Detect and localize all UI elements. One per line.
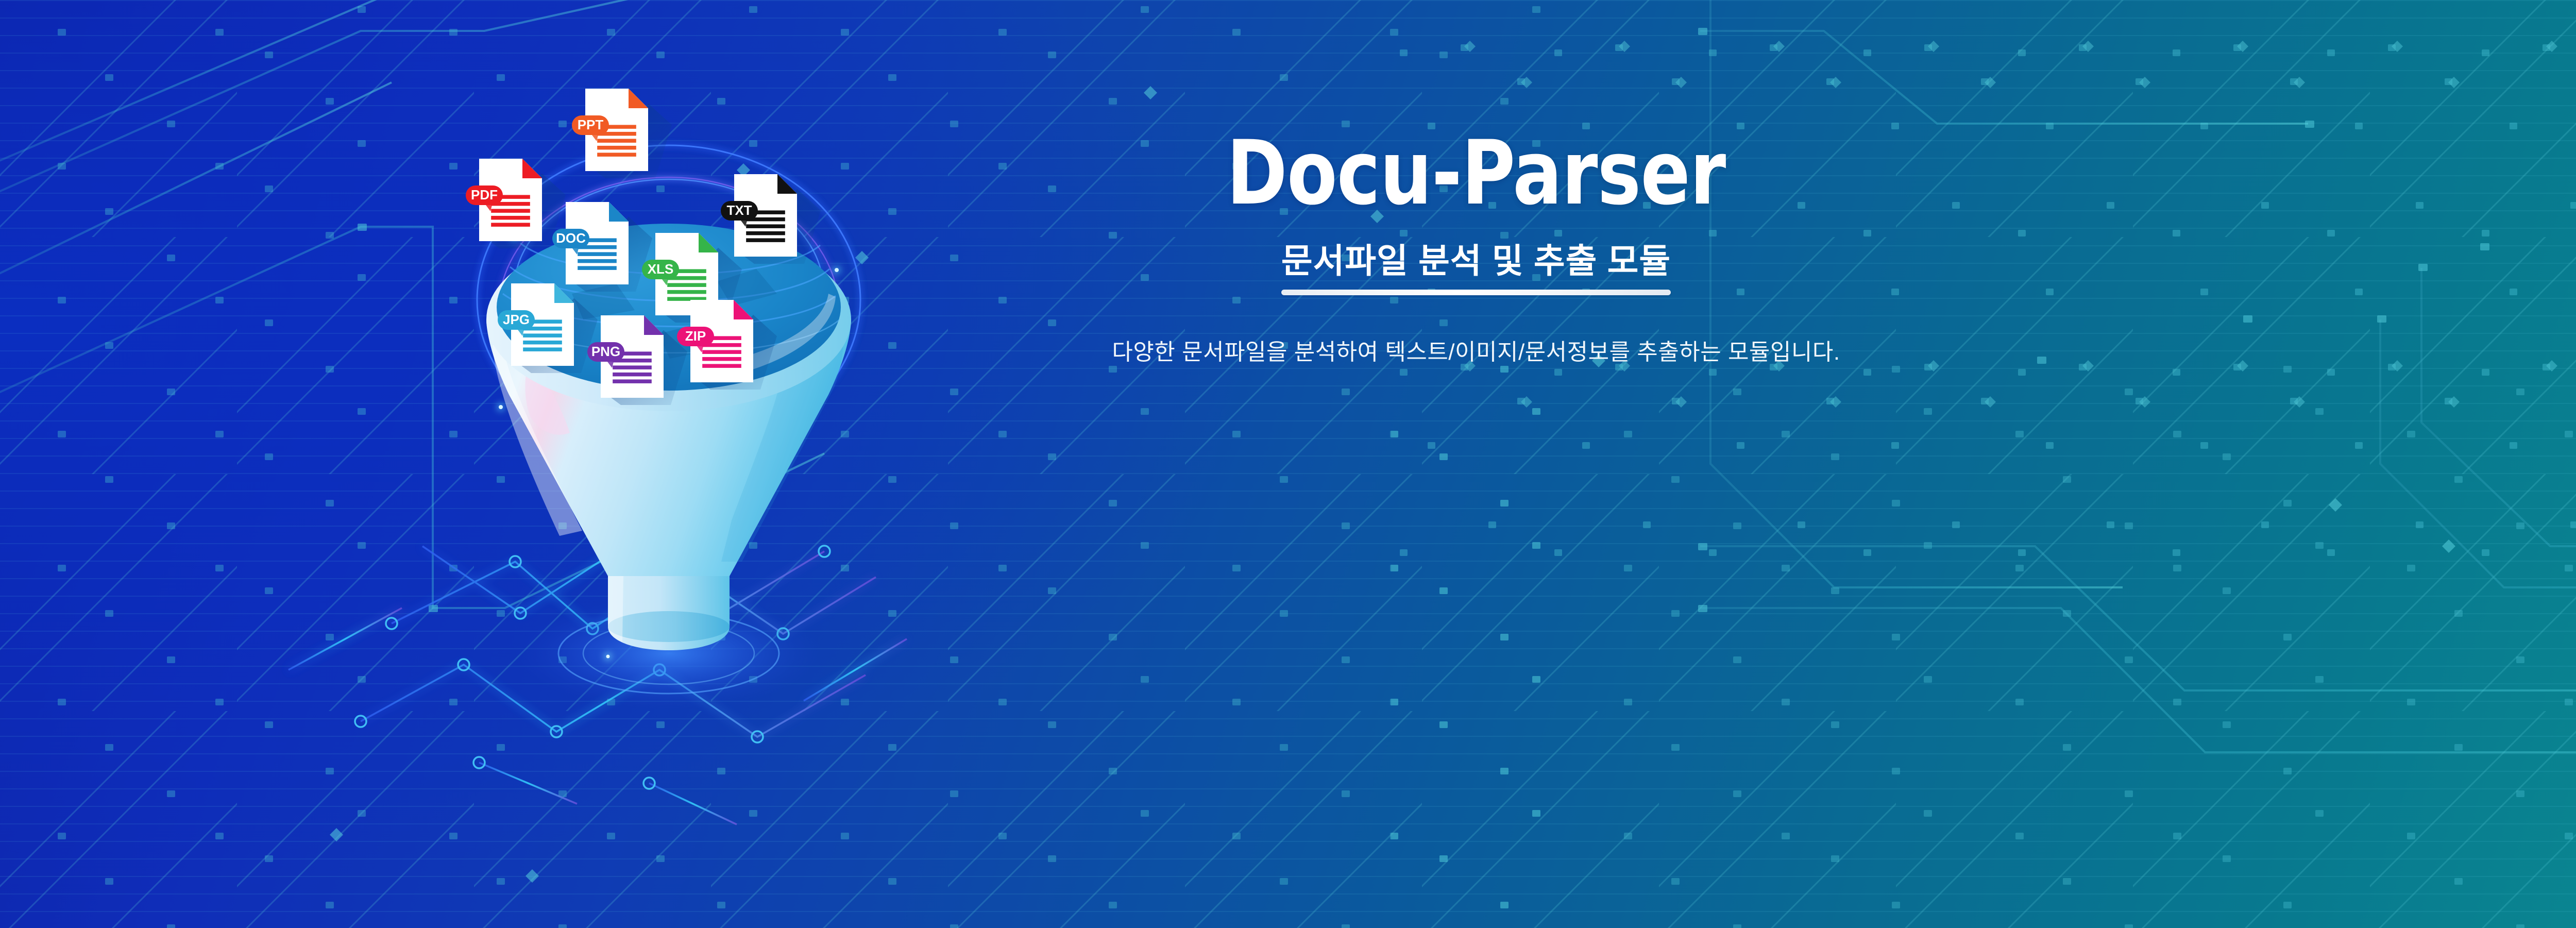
file-icon-label: PNG xyxy=(591,344,620,359)
file-icon-label: TXT xyxy=(726,203,752,218)
file-icon-pdf: PDF xyxy=(466,159,566,248)
file-icon-text-line xyxy=(523,347,562,351)
file-icon-label: PDF xyxy=(471,187,498,203)
file-icon-text-line xyxy=(702,350,741,354)
file-icon-text-line xyxy=(613,373,652,377)
file-icon-fold xyxy=(522,159,542,178)
file-icon-label: JPG xyxy=(503,312,530,327)
file-icon-text-line xyxy=(578,259,617,263)
file-icon-group: PPTPDFDOCTXTXLSJPGPNGZIP xyxy=(466,89,821,405)
file-icon-ppt: PPT xyxy=(572,89,672,178)
file-icon-label: ZIP xyxy=(685,328,706,344)
file-icon-text-line xyxy=(578,266,617,270)
file-icon-text-line xyxy=(613,379,652,383)
subtitle-underline xyxy=(1281,290,1671,295)
file-icon-text-line xyxy=(746,231,785,235)
file-icon-text-line xyxy=(523,333,562,338)
file-icon-text-line xyxy=(597,153,636,157)
file-icon-text-line xyxy=(746,224,785,228)
file-icon-label: PPT xyxy=(578,117,604,132)
hero-banner: PPTPDFDOCTXTXLSJPGPNGZIP Docu-Parser 문서파… xyxy=(0,0,2576,928)
file-icon-text-line xyxy=(597,139,636,143)
file-icon-text-line xyxy=(578,252,617,256)
page-title: Docu-Parser xyxy=(1042,129,1910,217)
file-icon-text-line xyxy=(613,365,652,369)
hero-copy: Docu-Parser 문서파일 분석 및 추출 모듈 다양한 문서파일을 분석… xyxy=(1005,129,1947,368)
hero-description: 다양한 문서파일을 분석하여 텍스트/이미지/문서정보를 추출하는 모듈입니다. xyxy=(1005,336,1947,368)
hero-subtitle: 문서파일 분석 및 추출 모듈 xyxy=(1281,241,1671,281)
file-icon-fold xyxy=(629,89,648,108)
file-icon-text-line xyxy=(597,146,636,150)
file-icon-text-line xyxy=(491,223,530,227)
file-icon-text-line xyxy=(702,364,741,368)
file-icon-txt: TXT xyxy=(721,174,821,264)
file-icon-fold xyxy=(609,202,629,222)
file-icon-text-line xyxy=(667,290,706,294)
file-icon-label: DOC xyxy=(556,230,586,246)
file-funnel-illustration: PPTPDFDOCTXTXLSJPGPNGZIP xyxy=(453,77,886,737)
file-icon-text-line xyxy=(523,341,562,345)
subtitle-block: 문서파일 분석 및 추출 모듈 xyxy=(1281,241,1671,295)
file-icon-doc: DOC xyxy=(552,202,652,292)
file-icon-text-line xyxy=(491,209,530,213)
file-icon-text-line xyxy=(667,283,706,287)
file-icon-text-line xyxy=(702,357,741,361)
file-icon-label: XLS xyxy=(648,261,674,277)
file-icon-text-line xyxy=(491,216,530,220)
file-icon-text-line xyxy=(746,238,785,242)
